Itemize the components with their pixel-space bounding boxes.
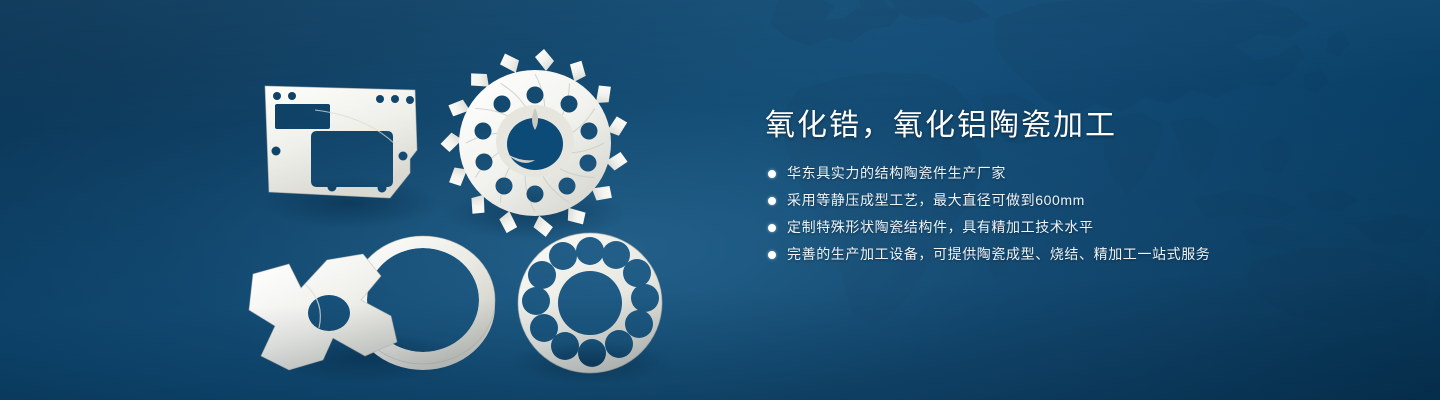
banner-copy: 氧化锆，氧化铝陶瓷加工 华东具实力的结构陶瓷件生产厂家 采用等静压成型工艺，最大… xyxy=(765,106,1385,264)
page-title: 氧化锆，氧化铝陶瓷加工 xyxy=(765,106,1385,146)
list-item: 完善的生产加工设备，可提供陶瓷成型、烧结、精加工一站式服务 xyxy=(765,245,1385,264)
feature-list: 华东具实力的结构陶瓷件生产厂家 采用等静压成型工艺，最大直径可做到600mm 定… xyxy=(765,164,1385,264)
bullet-dot-icon xyxy=(768,197,776,205)
list-item-label: 完善的生产加工设备，可提供陶瓷成型、烧结、精加工一站式服务 xyxy=(787,246,1210,262)
list-item-label: 华东具实力的结构陶瓷件生产厂家 xyxy=(787,165,1006,181)
list-item: 采用等静压成型工艺，最大直径可做到600mm xyxy=(765,191,1385,210)
bullet-dot-icon xyxy=(768,251,776,259)
bullet-dot-icon xyxy=(768,170,776,178)
list-item: 定制特殊形状陶瓷结构件，具有精加工技术水平 xyxy=(765,218,1385,237)
list-item-label: 定制特殊形状陶瓷结构件，具有精加工技术水平 xyxy=(787,219,1094,235)
list-item: 华东具实力的结构陶瓷件生产厂家 xyxy=(765,164,1385,183)
bullet-dot-icon xyxy=(768,224,776,232)
list-item-label: 采用等静压成型工艺，最大直径可做到600mm xyxy=(787,192,1085,208)
hero-banner: 氧化锆，氧化铝陶瓷加工 华东具实力的结构陶瓷件生产厂家 采用等静压成型工艺，最大… xyxy=(0,0,1440,400)
